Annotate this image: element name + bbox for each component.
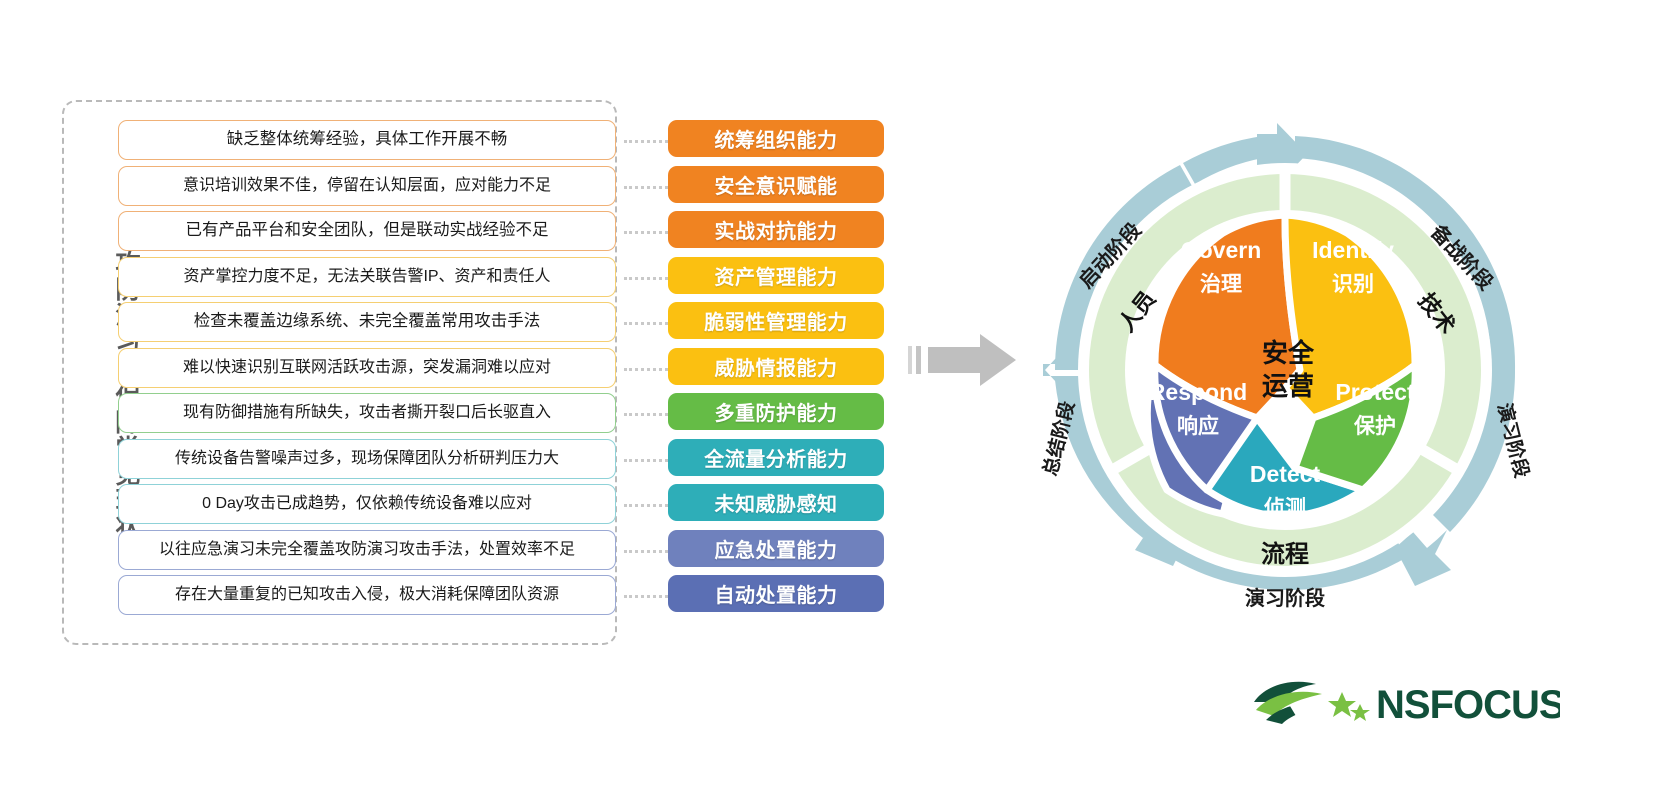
capability-badge[interactable]: 安全意识赋能 bbox=[668, 166, 884, 203]
segment-label-protect-zh: 保护 bbox=[1353, 414, 1396, 438]
issue-box: 以往应急演习未完全覆盖攻防演习攻击手法，处置效率不足 bbox=[118, 530, 616, 570]
capability-badge[interactable]: 资产管理能力 bbox=[668, 257, 884, 294]
issue-capability-connector bbox=[624, 459, 668, 462]
issue-box: 检查未覆盖边缘系统、未完全覆盖常用攻击手法 bbox=[118, 302, 616, 342]
issue-row: 0 Day攻击已成趋势，仅依赖传统设备难以应对 bbox=[118, 482, 616, 528]
issue-list: 缺乏整体统筹经验，具体工作开展不畅意识培训效果不佳，停留在认知层面，应对能力不足… bbox=[118, 118, 616, 619]
center-title-line2: 运营 bbox=[1262, 371, 1314, 401]
issue-row: 检查未覆盖边缘系统、未完全覆盖常用攻击手法 bbox=[118, 300, 616, 346]
capability-badge[interactable]: 脆弱性管理能力 bbox=[668, 302, 884, 339]
segment-label-protect-en: Protect bbox=[1335, 379, 1415, 405]
issue-box: 资产掌控力度不足，无法关联告警IP、资产和责任人 bbox=[118, 257, 616, 297]
issue-row: 存在大量重复的已知攻击入侵，极大消耗保障团队资源 bbox=[118, 573, 616, 619]
issue-capability-connector bbox=[624, 140, 668, 143]
security-operations-wheel: Govern 治理 Identify 识别 Protect 保护 Detect … bbox=[995, 70, 1575, 640]
outer-ring-label-exercise-bottom: 演习阶段 bbox=[1245, 586, 1325, 610]
issue-capability-connector bbox=[624, 504, 668, 507]
issue-box: 已有产品平台和安全团队，但是联动实战经验不足 bbox=[118, 211, 616, 251]
issue-row: 缺乏整体统筹经验，具体工作开展不畅 bbox=[118, 118, 616, 164]
issue-row: 难以快速识别互联网活跃攻击源，突发漏洞难以应对 bbox=[118, 346, 616, 392]
issue-row: 已有产品平台和安全团队，但是联动实战经验不足 bbox=[118, 209, 616, 255]
capability-badge[interactable]: 实战对抗能力 bbox=[668, 211, 884, 248]
issue-capability-connector bbox=[624, 368, 668, 371]
segment-label-respond-zh: 响应 bbox=[1177, 414, 1219, 438]
issue-row: 资产掌控力度不足，无法关联告警IP、资产和责任人 bbox=[118, 255, 616, 301]
issue-capability-connector bbox=[624, 322, 668, 325]
capability-badge[interactable]: 自动处置能力 bbox=[668, 575, 884, 612]
issue-capability-connector bbox=[624, 231, 668, 234]
capability-badge[interactable]: 多重防护能力 bbox=[668, 393, 884, 430]
issue-row: 传统设备告警噪声过多，现场保障团队分析研判压力大 bbox=[118, 437, 616, 483]
issue-box: 难以快速识别互联网活跃攻击源，突发漏洞难以应对 bbox=[118, 348, 616, 388]
segment-label-identify-en: Identify bbox=[1312, 237, 1394, 263]
segment-label-identify-zh: 识别 bbox=[1332, 273, 1374, 296]
issue-capability-connector bbox=[624, 277, 668, 280]
segment-label-detect-zh: 侦测 bbox=[1264, 497, 1306, 520]
segment-label-respond-en: Respond bbox=[1149, 379, 1247, 405]
nsfocus-logo-mark bbox=[1254, 682, 1370, 724]
slide-root: 攻防演习 保障常见现状 缺乏整体统筹经验，具体工作开展不畅意识培训效果不佳，停留… bbox=[0, 0, 1660, 804]
capability-badge[interactable]: 应急处置能力 bbox=[668, 530, 884, 567]
issue-capability-connector bbox=[624, 595, 668, 598]
issue-box: 传统设备告警噪声过多，现场保障团队分析研判压力大 bbox=[118, 439, 616, 479]
center-title-line1: 安全 bbox=[1262, 338, 1315, 368]
issue-box: 0 Day攻击已成趋势，仅依赖传统设备难以应对 bbox=[118, 484, 616, 524]
nsfocus-wordmark: NSFOCUS bbox=[1376, 683, 1560, 727]
inner-ring-label-process: 流程 bbox=[1261, 541, 1309, 568]
issue-row: 现有防御措施有所缺失，攻击者撕开裂口后长驱直入 bbox=[118, 391, 616, 437]
capability-badge[interactable]: 未知威胁感知 bbox=[668, 484, 884, 521]
issue-row: 意识培训效果不佳，停留在认知层面，应对能力不足 bbox=[118, 164, 616, 210]
issue-capability-connector bbox=[624, 413, 668, 416]
capability-badge[interactable]: 统筹组织能力 bbox=[668, 120, 884, 157]
capability-badge[interactable]: 全流量分析能力 bbox=[668, 439, 884, 476]
segment-label-govern-en: Govern bbox=[1181, 237, 1262, 263]
nsfocus-logo: NSFOCUS bbox=[1250, 676, 1560, 728]
capability-badge[interactable]: 威胁情报能力 bbox=[668, 348, 884, 385]
issue-box: 存在大量重复的已知攻击入侵，极大消耗保障团队资源 bbox=[118, 575, 616, 615]
issue-capability-connector bbox=[624, 186, 668, 189]
issue-box: 意识培训效果不佳，停留在认知层面，应对能力不足 bbox=[118, 166, 616, 206]
segment-label-detect-en: Detect bbox=[1250, 461, 1321, 487]
issue-capability-connector bbox=[624, 550, 668, 553]
capability-list: 统筹组织能力安全意识赋能实战对抗能力资产管理能力脆弱性管理能力威胁情报能力多重防… bbox=[668, 120, 884, 621]
issue-box: 现有防御措施有所缺失，攻击者撕开裂口后长驱直入 bbox=[118, 393, 616, 433]
issue-box: 缺乏整体统筹经验，具体工作开展不畅 bbox=[118, 120, 616, 160]
issue-row: 以往应急演习未完全覆盖攻防演习攻击手法，处置效率不足 bbox=[118, 528, 616, 574]
segment-label-govern-zh: 治理 bbox=[1200, 272, 1242, 296]
